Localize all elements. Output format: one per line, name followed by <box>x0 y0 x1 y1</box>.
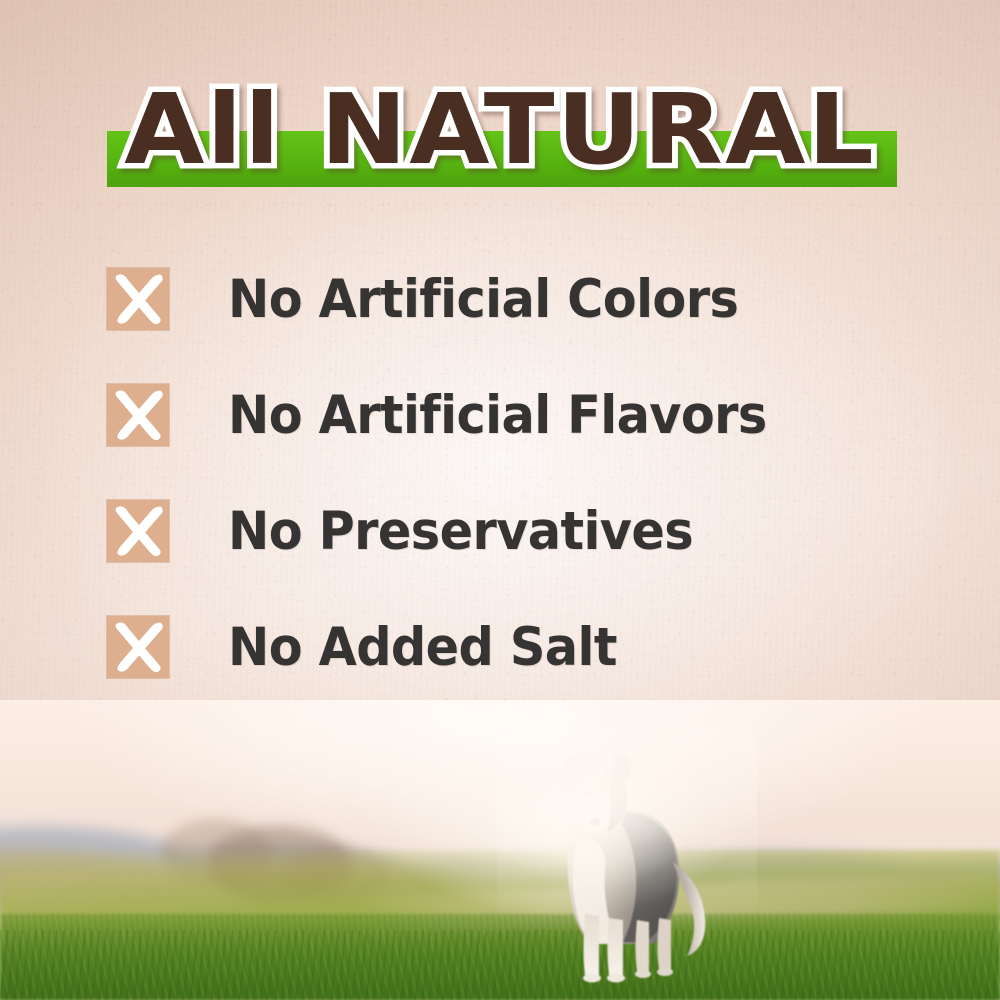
headline-banner: All NATURAL <box>0 62 1000 197</box>
x-mark-checkbox <box>107 500 169 562</box>
x-mark-checkbox <box>107 384 169 446</box>
list-item-label: No Added Salt <box>228 621 617 674</box>
headline-text: All NATURAL <box>0 62 1000 197</box>
list-item-label: No Artificial Colors <box>228 273 738 326</box>
landscape-photo <box>0 700 1000 1000</box>
list-item-label: No Preservatives <box>228 505 693 558</box>
x-mark-icon <box>116 622 163 672</box>
x-mark-checkbox <box>107 616 169 678</box>
claims-checklist: No Artificial Colors No Artificial Flavo… <box>107 262 967 726</box>
list-item: No Artificial Colors <box>107 262 967 336</box>
list-item: No Artificial Flavors <box>107 378 967 452</box>
x-mark-icon <box>116 506 163 556</box>
x-mark-icon <box>116 274 163 324</box>
list-item: No Preservatives <box>107 494 967 568</box>
x-mark-icon <box>116 390 163 440</box>
x-mark-checkbox <box>107 268 169 330</box>
photo-fade-haze <box>0 700 1000 1000</box>
list-item-label: No Artificial Flavors <box>228 389 767 442</box>
product-feature-graphic: All NATURAL No Artificial Colors <box>0 0 1000 1000</box>
list-item: No Added Salt <box>107 610 967 684</box>
